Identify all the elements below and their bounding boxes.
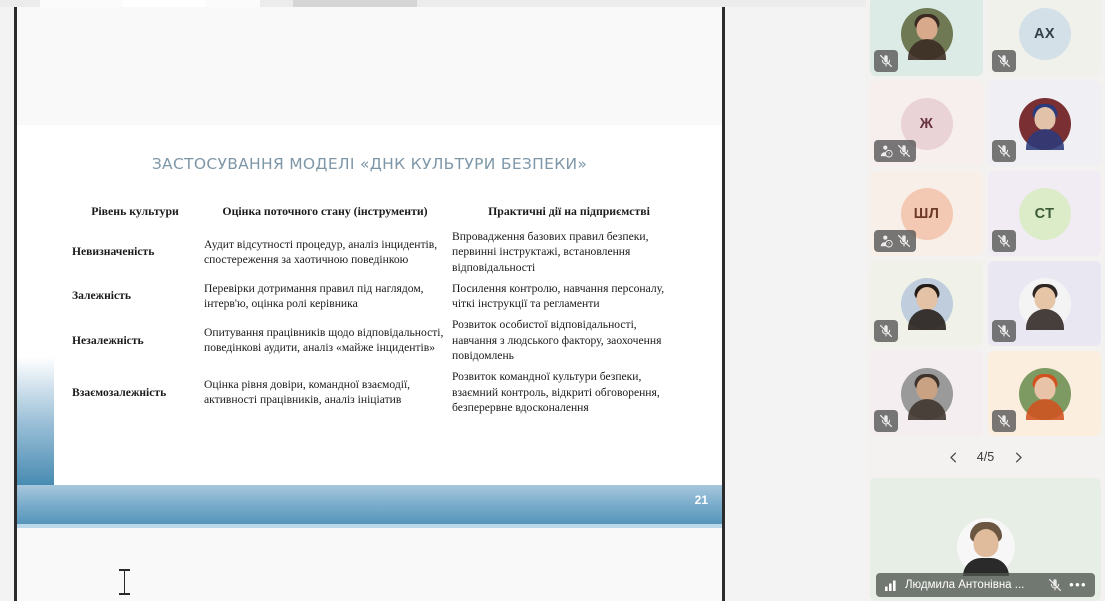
participant-tile[interactable] [988, 351, 1101, 436]
table-cell-actions: Впровадження базових правил безпеки, пер… [449, 226, 689, 278]
avatar-head [916, 17, 937, 40]
mic-off-icon[interactable] [997, 324, 1011, 338]
avatar-shoulders [1026, 399, 1064, 420]
avatar-initials: АХ [1019, 8, 1071, 60]
avatar [901, 8, 953, 60]
avatar-shoulders [908, 309, 946, 330]
partial-toolbar-strip [0, 0, 866, 7]
participant-tile[interactable] [870, 351, 983, 436]
toolbar-tab-active-fragment [123, 0, 205, 7]
slide-accent-underline [17, 524, 722, 528]
table-header-assessment: Оцінка поточного стану (інструменти) [201, 205, 449, 226]
mic-off-icon[interactable] [997, 414, 1011, 428]
avatar-head [916, 287, 937, 310]
svg-text:?: ? [888, 242, 891, 247]
avatar-head [916, 377, 937, 400]
mic-off-icon[interactable] [879, 54, 893, 68]
mic-off-icon[interactable] [997, 144, 1011, 158]
slide-title: ЗАСТОСУВАННЯ МОДЕЛІ «ДНК КУЛЬТУРИ БЕЗПЕК… [17, 155, 722, 173]
participant-tile[interactable]: Ж? [870, 81, 983, 166]
participants-rail: АХЖ?ШЛ?СТ 4/5 [866, 0, 1105, 601]
tile-badge-bar [992, 50, 1016, 72]
active-speaker-tile[interactable]: Людмила Антонівна ... ••• [870, 478, 1101, 601]
avatar [1019, 368, 1071, 420]
mic-off-icon[interactable] [897, 234, 911, 248]
table-cell-assessment: Аудит відсутності процедур, аналіз інцид… [201, 226, 449, 278]
screen-share-area: ЗАСТОСУВАННЯ МОДЕЛІ «ДНК КУЛЬТУРИ БЕЗПЕК… [0, 0, 866, 601]
tile-badge-bar [874, 320, 898, 342]
safety-culture-dna-table: Рівень культури Оцінка поточного стану (… [69, 205, 689, 418]
signal-bars-icon [884, 578, 898, 592]
document-page: ЗАСТОСУВАННЯ МОДЕЛІ «ДНК КУЛЬТУРИ БЕЗПЕК… [14, 7, 725, 601]
participant-tile[interactable] [870, 261, 983, 346]
table-cell-actions: Розвиток особистої відповідальності, нав… [449, 314, 689, 366]
text-cursor-icon [118, 569, 131, 595]
tile-badge-bar [992, 410, 1016, 432]
table-cell-actions: Розвиток командної культури безпеки, вза… [449, 366, 689, 418]
avatar [1019, 278, 1071, 330]
unknown-person-icon: ? [879, 144, 893, 158]
speaker-name: Людмила Антонівна ... [905, 579, 1041, 591]
avatar-shoulders [908, 39, 946, 60]
table-row: НезалежністьОпитування працівників щодо … [69, 314, 689, 366]
mic-off-icon[interactable] [879, 324, 893, 338]
participant-tile[interactable]: ШЛ? [870, 171, 983, 256]
speaker-info-bar: Людмила Антонівна ... ••• [876, 573, 1095, 597]
tile-badge-bar [992, 140, 1016, 162]
participant-tile[interactable]: СТ [988, 171, 1101, 256]
avatar-head [1034, 377, 1055, 400]
avatar-head [1034, 107, 1055, 130]
participant-tile[interactable] [870, 0, 983, 76]
toolbar-selection-fragment [293, 0, 417, 7]
avatar-head [1034, 287, 1055, 310]
table-header-level: Рівень культури [69, 205, 201, 226]
avatar [901, 278, 953, 330]
table-header-actions: Практичні дії на підприємстві [449, 205, 689, 226]
tile-badge-bar: ? [874, 140, 916, 162]
app-root: ЗАСТОСУВАННЯ МОДЕЛІ «ДНК КУЛЬТУРИ БЕЗПЕК… [0, 0, 1105, 601]
avatar-initials: СТ [1019, 188, 1071, 240]
avatar-shoulders [1026, 129, 1064, 150]
table-cell-level: Незалежність [69, 314, 201, 366]
table-cell-assessment: Оцінка рівня довіри, командної взаємодії… [201, 366, 449, 418]
participant-tile-grid: АХЖ?ШЛ?СТ [870, 0, 1101, 436]
avatar [901, 368, 953, 420]
participant-tile[interactable]: АХ [988, 0, 1101, 76]
mic-off-icon[interactable] [879, 414, 893, 428]
tile-badge-bar [992, 320, 1016, 342]
table-row: ВзаємозалежністьОцінка рівня довіри, ком… [69, 366, 689, 418]
slide-number: 21 [695, 493, 708, 507]
avatar [1019, 98, 1071, 150]
avatar-shoulders [1026, 309, 1064, 330]
table-cell-level: Залежність [69, 278, 201, 315]
table-cell-actions: Посилення контролю, навчання персоналу, … [449, 278, 689, 315]
table-cell-level: Невизначеність [69, 226, 201, 278]
participant-pager[interactable]: 4/5 [870, 444, 1101, 470]
mic-off-icon[interactable] [997, 234, 1011, 248]
table-cell-assessment: Перевірки дотримання правил під наглядом… [201, 278, 449, 315]
table-cell-level: Взаємозалежність [69, 366, 201, 418]
mic-off-icon[interactable] [897, 144, 911, 158]
tile-badge-bar [874, 410, 898, 432]
participant-tile[interactable] [988, 81, 1101, 166]
table-header-row: Рівень культури Оцінка поточного стану (… [69, 205, 689, 226]
slide-accent-bottom [17, 485, 722, 528]
table-row: НевизначеністьАудит відсутності процедур… [69, 226, 689, 278]
table-row: ЗалежністьПеревірки дотримання правил пі… [69, 278, 689, 315]
mic-off-icon[interactable] [997, 54, 1011, 68]
page-indicator: 4/5 [973, 450, 999, 464]
tile-badge-bar: ? [874, 230, 916, 252]
table-cell-assessment: Опитування працівників щодо відповідальн… [201, 314, 449, 366]
chevron-right-icon[interactable] [1012, 451, 1025, 464]
chevron-left-icon[interactable] [947, 451, 960, 464]
more-options-icon[interactable]: ••• [1069, 580, 1087, 590]
avatar-shoulders [908, 399, 946, 420]
avatar [957, 518, 1015, 576]
svg-text:?: ? [888, 152, 891, 157]
avatar-head [973, 529, 998, 557]
participant-tile[interactable] [988, 261, 1101, 346]
presentation-slide: ЗАСТОСУВАННЯ МОДЕЛІ «ДНК КУЛЬТУРИ БЕЗПЕК… [17, 125, 722, 528]
unknown-person-icon: ? [879, 234, 893, 248]
tile-badge-bar [874, 50, 898, 72]
tile-badge-bar [992, 230, 1016, 252]
mic-off-icon[interactable] [1048, 578, 1062, 592]
